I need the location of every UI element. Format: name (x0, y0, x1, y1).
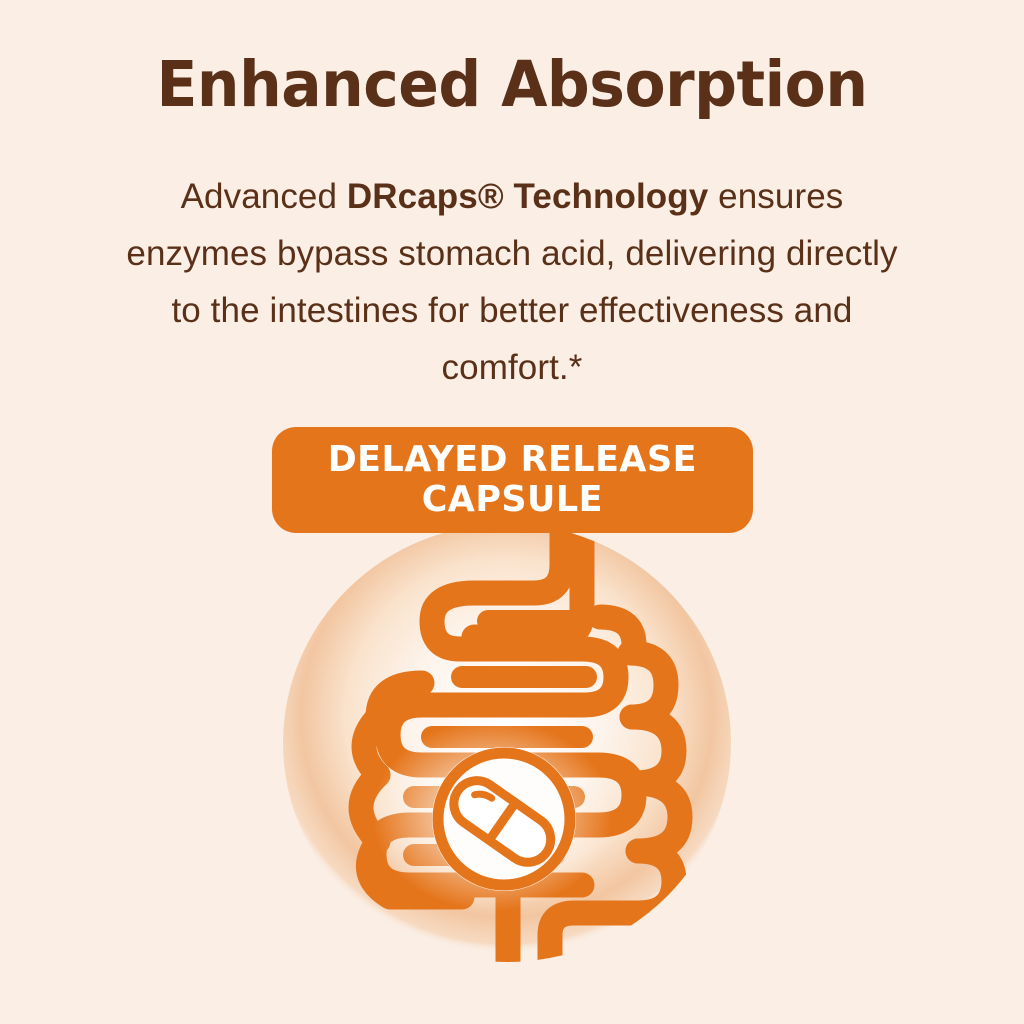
badge-label-line2: CAPSULE (422, 479, 603, 520)
badge-label: DELAYED RELEASE CAPSULE (328, 440, 697, 520)
description-bold-term: DRcaps® Technology (347, 177, 708, 216)
badge-label-line1: DELAYED RELEASE (328, 439, 697, 480)
promo-canvas: Enhanced Absorption Advanced DRcaps® Tec… (0, 0, 1024, 1024)
delayed-release-badge: DELAYED RELEASE CAPSULE (272, 427, 753, 533)
delayed-release-capsule-icon (432, 747, 576, 891)
page-title: Enhanced Absorption (26, 52, 999, 118)
intestine-illustration (282, 525, 732, 965)
description-paragraph: Advanced DRcaps® Technology ensures enzy… (112, 168, 912, 396)
description-prefix: Advanced (181, 177, 347, 216)
